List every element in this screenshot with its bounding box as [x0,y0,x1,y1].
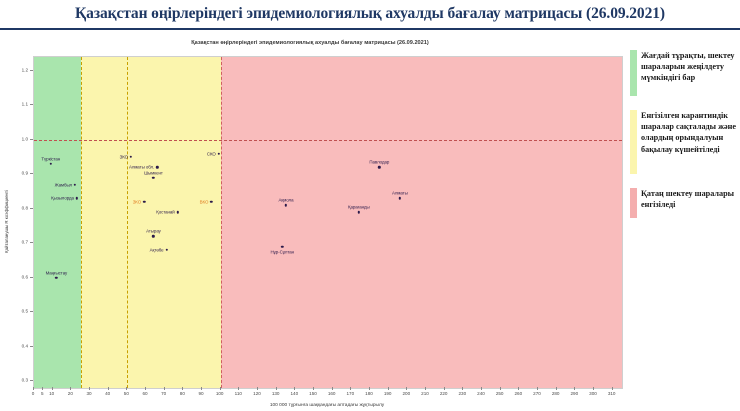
chart-figure: Қазақстан өңірлеріндегі эпидемиологиялық… [0,32,740,411]
data-point-label: ЗКО [120,154,128,159]
incidence-threshold-25 [81,57,82,388]
data-point-label: Алматы [392,191,408,196]
x-tick [294,387,295,390]
x-tick [332,387,333,390]
x-tick [500,387,501,390]
x-tick-label: 280 [552,391,560,396]
x-tick [126,387,127,390]
data-point-label: Қостанай [156,210,175,215]
data-point-label: Маңғыстау [46,270,68,275]
r-threshold [34,140,622,141]
incidence-threshold-100 [221,57,222,388]
y-tick [30,346,33,347]
x-tick [425,387,426,390]
x-tick [612,387,613,390]
x-tick-label: 190 [384,391,392,396]
y-tick-label: 0.9 [22,171,28,176]
y-tick-label: 1.1 [22,102,28,107]
x-tick [444,387,445,390]
data-point-label: Алматы обл. [129,165,154,170]
chart-title: Қазақстан өңірлеріндегі эпидемиологиялық… [0,40,620,46]
x-tick [52,387,53,390]
legend-swatch-red-icon [630,188,637,218]
y-tick [30,139,33,140]
x-tick [406,387,407,390]
y-tick-label: 0.8 [22,205,28,210]
incidence-threshold-50 [127,57,128,388]
y-tick [30,242,33,243]
y-axis-label: Қайталанушы R коэффициенті [4,56,14,387]
x-tick-label: 230 [458,391,466,396]
y-tick [30,311,33,312]
y-tick [30,70,33,71]
x-tick-label: 100 [216,391,224,396]
x-tick-label: 260 [514,391,522,396]
x-tick-label: 220 [440,391,448,396]
x-tick-label: 160 [328,391,336,396]
x-tick-label: 70 [161,391,166,396]
y-tick [30,173,33,174]
legend-item-red: Қатаң шектеу шаралары енгізіледі [630,188,738,218]
x-tick [182,387,183,390]
data-point-label: Шымкент [144,170,163,175]
x-tick-label: 290 [570,391,578,396]
x-tick [70,387,71,390]
y-tick-label: 0.4 [22,343,28,348]
data-point-label: Павлодар [369,160,389,165]
x-tick-label: 90 [198,391,203,396]
x-tick-label: 150 [309,391,317,396]
x-tick [201,387,202,390]
x-tick-label: 170 [346,391,354,396]
x-tick [518,387,519,390]
y-tick-label: 0.3 [22,378,28,383]
data-point-label: ВКО [200,199,209,204]
y-tick-label: 0.6 [22,274,28,279]
x-tick [238,387,239,390]
legend-label-green: Жағдай тұрақты, шектеу шараларын жеңілде… [641,50,738,84]
x-tick-label: 270 [533,391,541,396]
legend-swatch-green-icon [630,50,637,96]
page-title: Қазақстан өңірлеріндегі эпидемиологиялық… [75,5,665,23]
x-axis: 0510203040506070809010011012013014015016… [33,387,621,403]
x-tick [556,387,557,390]
data-point-label: Қарағанды [348,205,370,210]
red-zone [221,57,622,388]
x-tick-label: 110 [235,391,242,396]
y-tick-label: 1.2 [22,67,28,72]
x-tick-label: 10 [49,391,54,396]
x-tick [145,387,146,390]
legend-swatch-yellow-icon [630,110,637,174]
yellow-zone [81,57,221,388]
x-tick-label: 120 [253,391,261,396]
x-tick-label: 5 [41,391,44,396]
y-tick-label: 0.7 [22,240,28,245]
data-point-label: Нұр-Сұлтан [271,249,295,254]
x-tick [164,387,165,390]
page-header: Қазақстан өңірлеріндегі эпидемиологиялық… [0,0,740,30]
legend-item-green: Жағдай тұрақты, шектеу шараларын жеңілде… [630,50,738,96]
x-tick [574,387,575,390]
y-tick-label: 1.0 [22,136,28,141]
x-tick-label: 310 [608,391,616,396]
x-tick [313,387,314,390]
x-tick-label: 140 [290,391,298,396]
x-tick-label: 80 [180,391,185,396]
x-tick [276,387,277,390]
x-tick [462,387,463,390]
x-tick-label: 40 [105,391,110,396]
legend-item-yellow: Енгізілген карантиндік шаралар сақталады… [630,110,738,174]
x-tick [369,387,370,390]
scatter-plot-area: ТүркістанЖамбылҚызылордаМаңғыстауЗКОАлма… [33,56,623,389]
y-tick [30,277,33,278]
x-tick [42,387,43,390]
x-tick-label: 240 [477,391,485,396]
data-point-label: Қызылорда [51,196,74,201]
x-tick [350,387,351,390]
x-tick-label: 60 [142,391,147,396]
x-tick-label: 50 [124,391,129,396]
x-tick-label: 210 [421,391,429,396]
x-tick [537,387,538,390]
x-tick [388,387,389,390]
x-tick [481,387,482,390]
x-tick [33,387,34,390]
y-tick [30,380,33,381]
x-axis-label: 100 000 тұрғынға шаққандағы аптадағы жұқ… [33,403,621,408]
x-tick-label: 30 [86,391,91,396]
data-point-label: ЗКО [133,199,141,204]
legend-label-red: Қатаң шектеу шаралары енгізіледі [641,188,738,210]
y-tick [30,208,33,209]
x-tick-label: 300 [589,391,597,396]
x-tick-label: 250 [496,391,504,396]
data-point-label: Атырау [146,229,161,234]
y-tick-label: 0.5 [22,309,28,314]
x-tick-label: 130 [272,391,280,396]
x-tick [257,387,258,390]
data-point-label: Жамбыл [55,182,72,187]
x-tick [108,387,109,390]
x-tick-label: 0 [32,391,35,396]
x-tick-label: 20 [68,391,73,396]
legend-label-yellow: Енгізілген карантиндік шаралар сақталады… [641,110,738,155]
x-tick [89,387,90,390]
x-tick [593,387,594,390]
data-point-label: Ақмола [279,198,294,203]
x-tick [220,387,221,390]
legend: Жағдай тұрақты, шектеу шараларын жеңілде… [630,50,738,232]
x-tick-label: 180 [365,391,373,396]
data-point-label: СКО [207,151,216,156]
y-tick [30,104,33,105]
x-tick-label: 200 [402,391,410,396]
data-point-label: Ақтөбе [150,248,164,253]
data-point-label: Түркістан [41,156,60,161]
green-zone [34,57,81,388]
